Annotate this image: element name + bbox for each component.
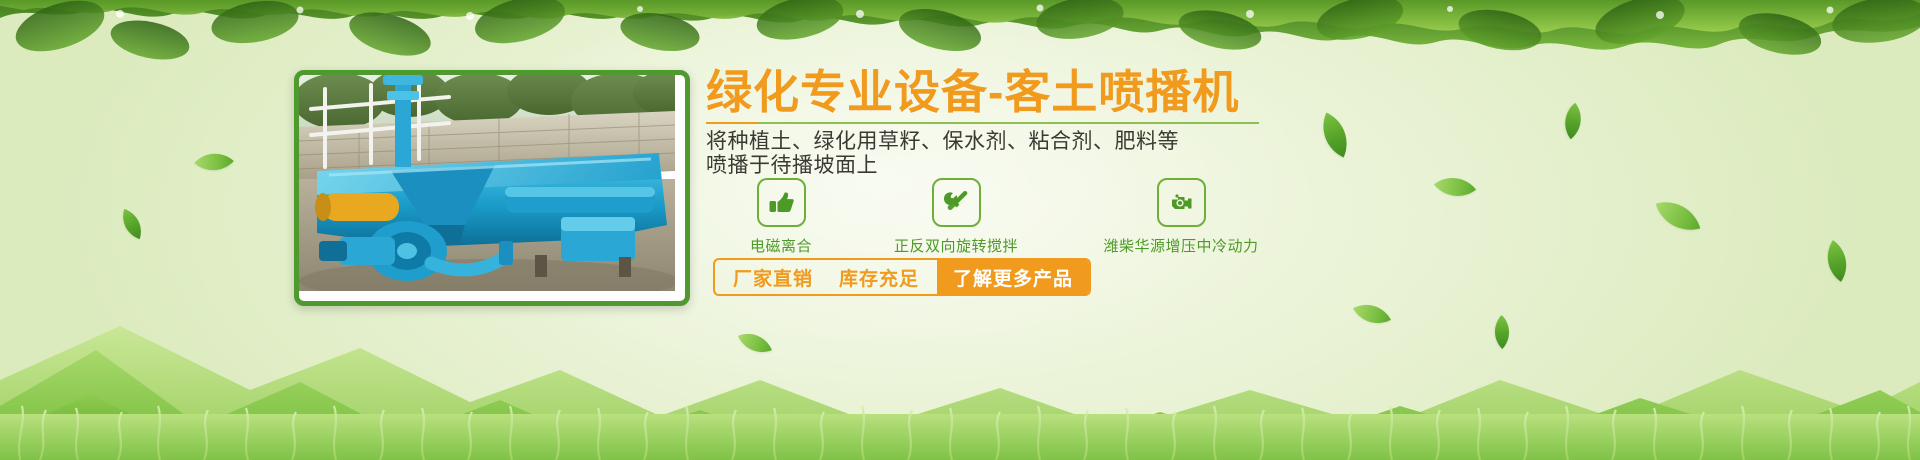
cta-tags: 厂家直销 库存充足 (715, 260, 937, 294)
cta-tag-in-stock: 库存充足 (839, 264, 919, 291)
title-divider (706, 122, 1259, 124)
thumbs-up-icon (757, 178, 806, 227)
product-photo-frame (294, 70, 690, 306)
learn-more-button[interactable]: 了解更多产品 (937, 260, 1089, 294)
bottom-grass-decoration (0, 340, 1920, 460)
feature-item-bidirectional-mixing: 正反双向旋转搅拌 (856, 178, 1056, 256)
feature-list: 电磁离合 正反双向旋转搅拌 (706, 178, 1406, 256)
cta-tag-factory-direct: 厂家直销 (733, 264, 813, 291)
banner-title: 绿化专业设备-客土喷播机 (706, 66, 1406, 118)
feature-label: 电磁离合 (750, 235, 812, 256)
feature-row: 电磁离合 正反双向旋转搅拌 (706, 178, 1406, 256)
feature-item-weichai-power: 潍柴华源增压中冷动力 (1056, 178, 1306, 256)
product-photo (299, 75, 685, 301)
promo-banner: 绿化专业设备-客土喷播机 将种植土、绿化用草籽、保水剂、粘合剂、肥料等 喷播于待… (0, 0, 1920, 460)
floating-leaf-icon (194, 142, 234, 182)
feature-label: 正反双向旋转搅拌 (894, 235, 1018, 256)
feature-label: 潍柴华源增压中冷动力 (1103, 235, 1258, 256)
wrench-screwdriver-icon (932, 178, 981, 227)
engine-icon (1157, 178, 1206, 227)
banner-subtitle-line2: 喷播于待播坡面上 (706, 154, 1406, 178)
banner-text-block: 绿化专业设备-客土喷播机 将种植土、绿化用草籽、保水剂、粘合剂、肥料等 喷播于待… (706, 66, 1406, 178)
cta-bar: 厂家直销 库存充足 了解更多产品 (713, 258, 1091, 296)
banner-subtitle-line1: 将种植土、绿化用草籽、保水剂、粘合剂、肥料等 (706, 130, 1406, 154)
feature-item-electromagnetic-clutch: 电磁离合 (706, 178, 856, 256)
floating-leaf-icon (1434, 166, 1476, 208)
